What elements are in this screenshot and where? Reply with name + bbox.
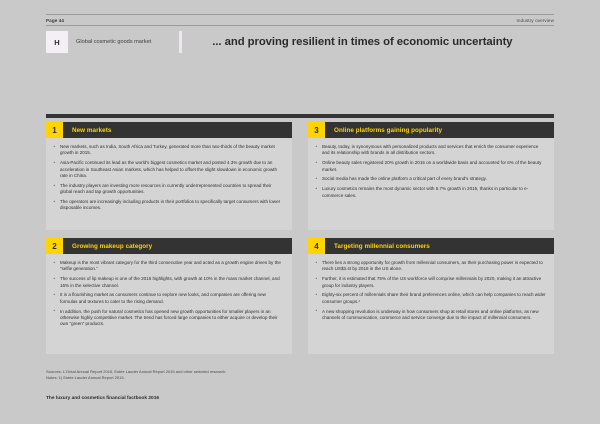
card-number: 2	[46, 238, 63, 254]
card-body: Makeup is the most vibrant category for …	[46, 254, 292, 354]
page-header: Page 44 Industry overview	[46, 14, 554, 26]
chapter-label: Global cosmetic goods market	[76, 39, 151, 45]
list-item: The success of lip makeup is one of the …	[53, 276, 284, 289]
card-number: 3	[308, 122, 325, 138]
list-item: Beauty, today, is synonymous with person…	[315, 144, 546, 157]
list-item: Eighty-six percent of millennials share …	[315, 292, 546, 305]
notes-line: Notes: 1) Estée Lauder Annual Report 201…	[46, 375, 554, 381]
card-header: 2 Growing makeup category	[46, 238, 292, 254]
bullet-list: There lies a strong opportunity for grow…	[315, 260, 546, 321]
card-number: 1	[46, 122, 63, 138]
chapter-badge: H	[46, 31, 68, 53]
section-name: Industry overview	[517, 18, 554, 23]
card-title: Targeting millennial consumers	[325, 238, 430, 254]
list-item: A new shopping revolution is underway in…	[315, 309, 546, 322]
title-divider	[179, 31, 182, 53]
list-item: Further, it is estimated that 75% of the…	[315, 276, 546, 289]
bullet-list: Beauty, today, is synonymous with person…	[315, 144, 546, 199]
content-top-rule	[46, 114, 554, 118]
list-item: The operators are increasingly including…	[53, 199, 284, 212]
list-item: Asia-Pacific continued its lead as the w…	[53, 160, 284, 179]
page-number: Page 44	[46, 18, 64, 23]
document-page: Page 44 Industry overview H Global cosme…	[0, 0, 600, 424]
document-title: The luxury and cosmetics financial factb…	[46, 396, 159, 401]
card-header: 4 Targeting millennial consumers	[308, 238, 554, 254]
card-body: There lies a strong opportunity for grow…	[308, 254, 554, 354]
list-item: Luxury cosmetics remains the most dynami…	[315, 186, 546, 199]
card-title: Online platforms gaining popularity	[325, 122, 442, 138]
list-item: Social media has made the online platfor…	[315, 176, 546, 182]
list-item: It is a flourishing market as consumers …	[53, 292, 284, 305]
list-item: Makeup is the most vibrant category for …	[53, 260, 284, 273]
list-item: The industry players are investing more …	[53, 183, 284, 196]
card-header: 3 Online platforms gaining popularity	[308, 122, 554, 138]
list-item: There lies a strong opportunity for grow…	[315, 260, 546, 273]
bullet-list: Makeup is the most vibrant category for …	[53, 260, 284, 328]
insight-card: 4 Targeting millennial consumers There l…	[308, 238, 554, 354]
card-body: Beauty, today, is synonymous with person…	[308, 138, 554, 230]
footnotes: Sources: L'Oréal Annual Report 2015, Est…	[46, 369, 554, 381]
insight-card: 2 Growing makeup category Makeup is the …	[46, 238, 292, 354]
list-item: New markets, such as India, South Africa…	[53, 144, 284, 157]
page-title: ... and proving resilient in times of ec…	[212, 36, 512, 48]
list-item: Online beauty sales registered 20% growt…	[315, 160, 546, 173]
card-title: Growing makeup category	[63, 238, 152, 254]
insight-card-grid: 1 New markets New markets, such as India…	[46, 122, 554, 354]
insight-card: 1 New markets New markets, such as India…	[46, 122, 292, 230]
bullet-list: New markets, such as India, South Africa…	[53, 144, 284, 212]
card-header: 1 New markets	[46, 122, 292, 138]
card-number: 4	[308, 238, 325, 254]
card-title: New markets	[63, 122, 111, 138]
title-row: H Global cosmetic goods market ... and p…	[46, 30, 554, 54]
insight-card: 3 Online platforms gaining popularity Be…	[308, 122, 554, 230]
card-body: New markets, such as India, South Africa…	[46, 138, 292, 230]
list-item: In addition, the push for natural cosmet…	[53, 309, 284, 328]
